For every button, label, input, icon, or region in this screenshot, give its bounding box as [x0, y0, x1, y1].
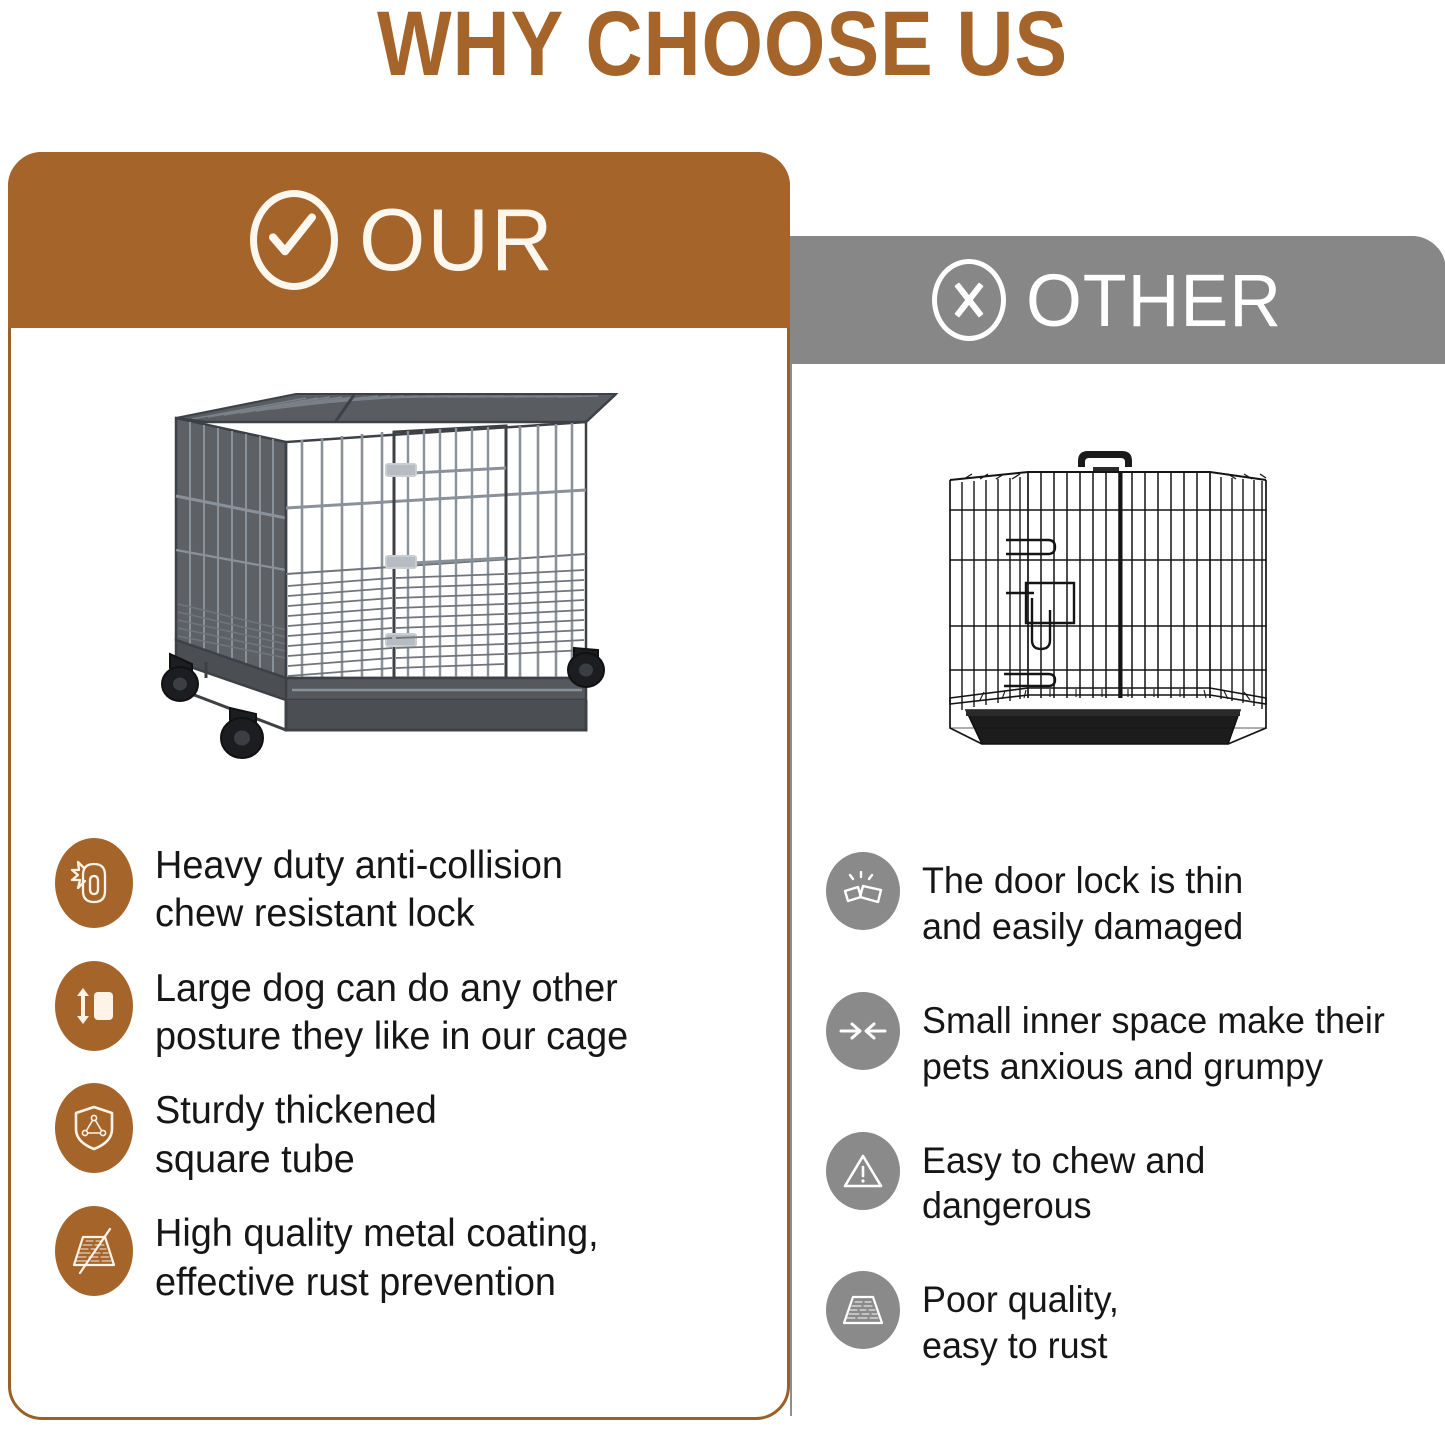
our-product-image — [146, 378, 646, 778]
broken-lock-icon — [826, 852, 900, 930]
list-item: The door lock is thin and easily damaged — [826, 852, 1426, 950]
other-feature-list: The door lock is thin and easily damaged… — [826, 852, 1426, 1411]
list-item: Easy to chew and dangerous — [826, 1132, 1426, 1230]
other-tab-label: OTHER — [1026, 258, 1282, 343]
list-item-label: Large dog can do any other posture they … — [155, 961, 628, 1062]
shield-icon — [55, 1083, 133, 1173]
page-title: WHY CHOOSE US — [101, 0, 1344, 92]
list-item-label: Poor quality, easy to rust — [922, 1271, 1119, 1369]
list-item: Large dog can do any other posture they … — [55, 961, 755, 1062]
list-item-label: High quality metal coating, effective ru… — [155, 1206, 599, 1307]
warning-triangle-icon — [826, 1132, 900, 1210]
narrow-space-icon — [826, 992, 900, 1070]
list-item-label: Small inner space make their pets anxiou… — [922, 992, 1385, 1090]
impact-lock-icon — [55, 838, 133, 928]
rust-coating-icon — [826, 1271, 900, 1349]
list-item: Small inner space make their pets anxiou… — [826, 992, 1426, 1090]
our-feature-list: Heavy duty anti-collision chew resistant… — [55, 838, 755, 1329]
other-header-tab[interactable]: OTHER — [790, 236, 1445, 364]
list-item: Heavy duty anti-collision chew resistant… — [55, 838, 755, 939]
list-item: Sturdy thickened square tube — [55, 1083, 755, 1184]
list-item: Poor quality, easy to rust — [826, 1271, 1426, 1369]
no-rust-coating-icon — [55, 1206, 133, 1296]
infographic-canvas: WHY CHOOSE US OTHER — [0, 0, 1445, 1450]
other-product-image — [910, 448, 1300, 758]
our-header-tab[interactable]: OUR — [8, 152, 790, 328]
list-item: High quality metal coating, effective ru… — [55, 1206, 755, 1307]
our-tab-label: OUR — [359, 189, 555, 291]
x-circle-icon — [932, 259, 1006, 341]
vertical-space-icon — [55, 961, 133, 1051]
list-item-label: Easy to chew and dangerous — [922, 1132, 1205, 1230]
list-item-label: The door lock is thin and easily damaged — [922, 852, 1243, 950]
check-circle-icon — [250, 190, 338, 290]
list-item-label: Heavy duty anti-collision chew resistant… — [155, 838, 563, 939]
list-item-label: Sturdy thickened square tube — [155, 1083, 437, 1184]
